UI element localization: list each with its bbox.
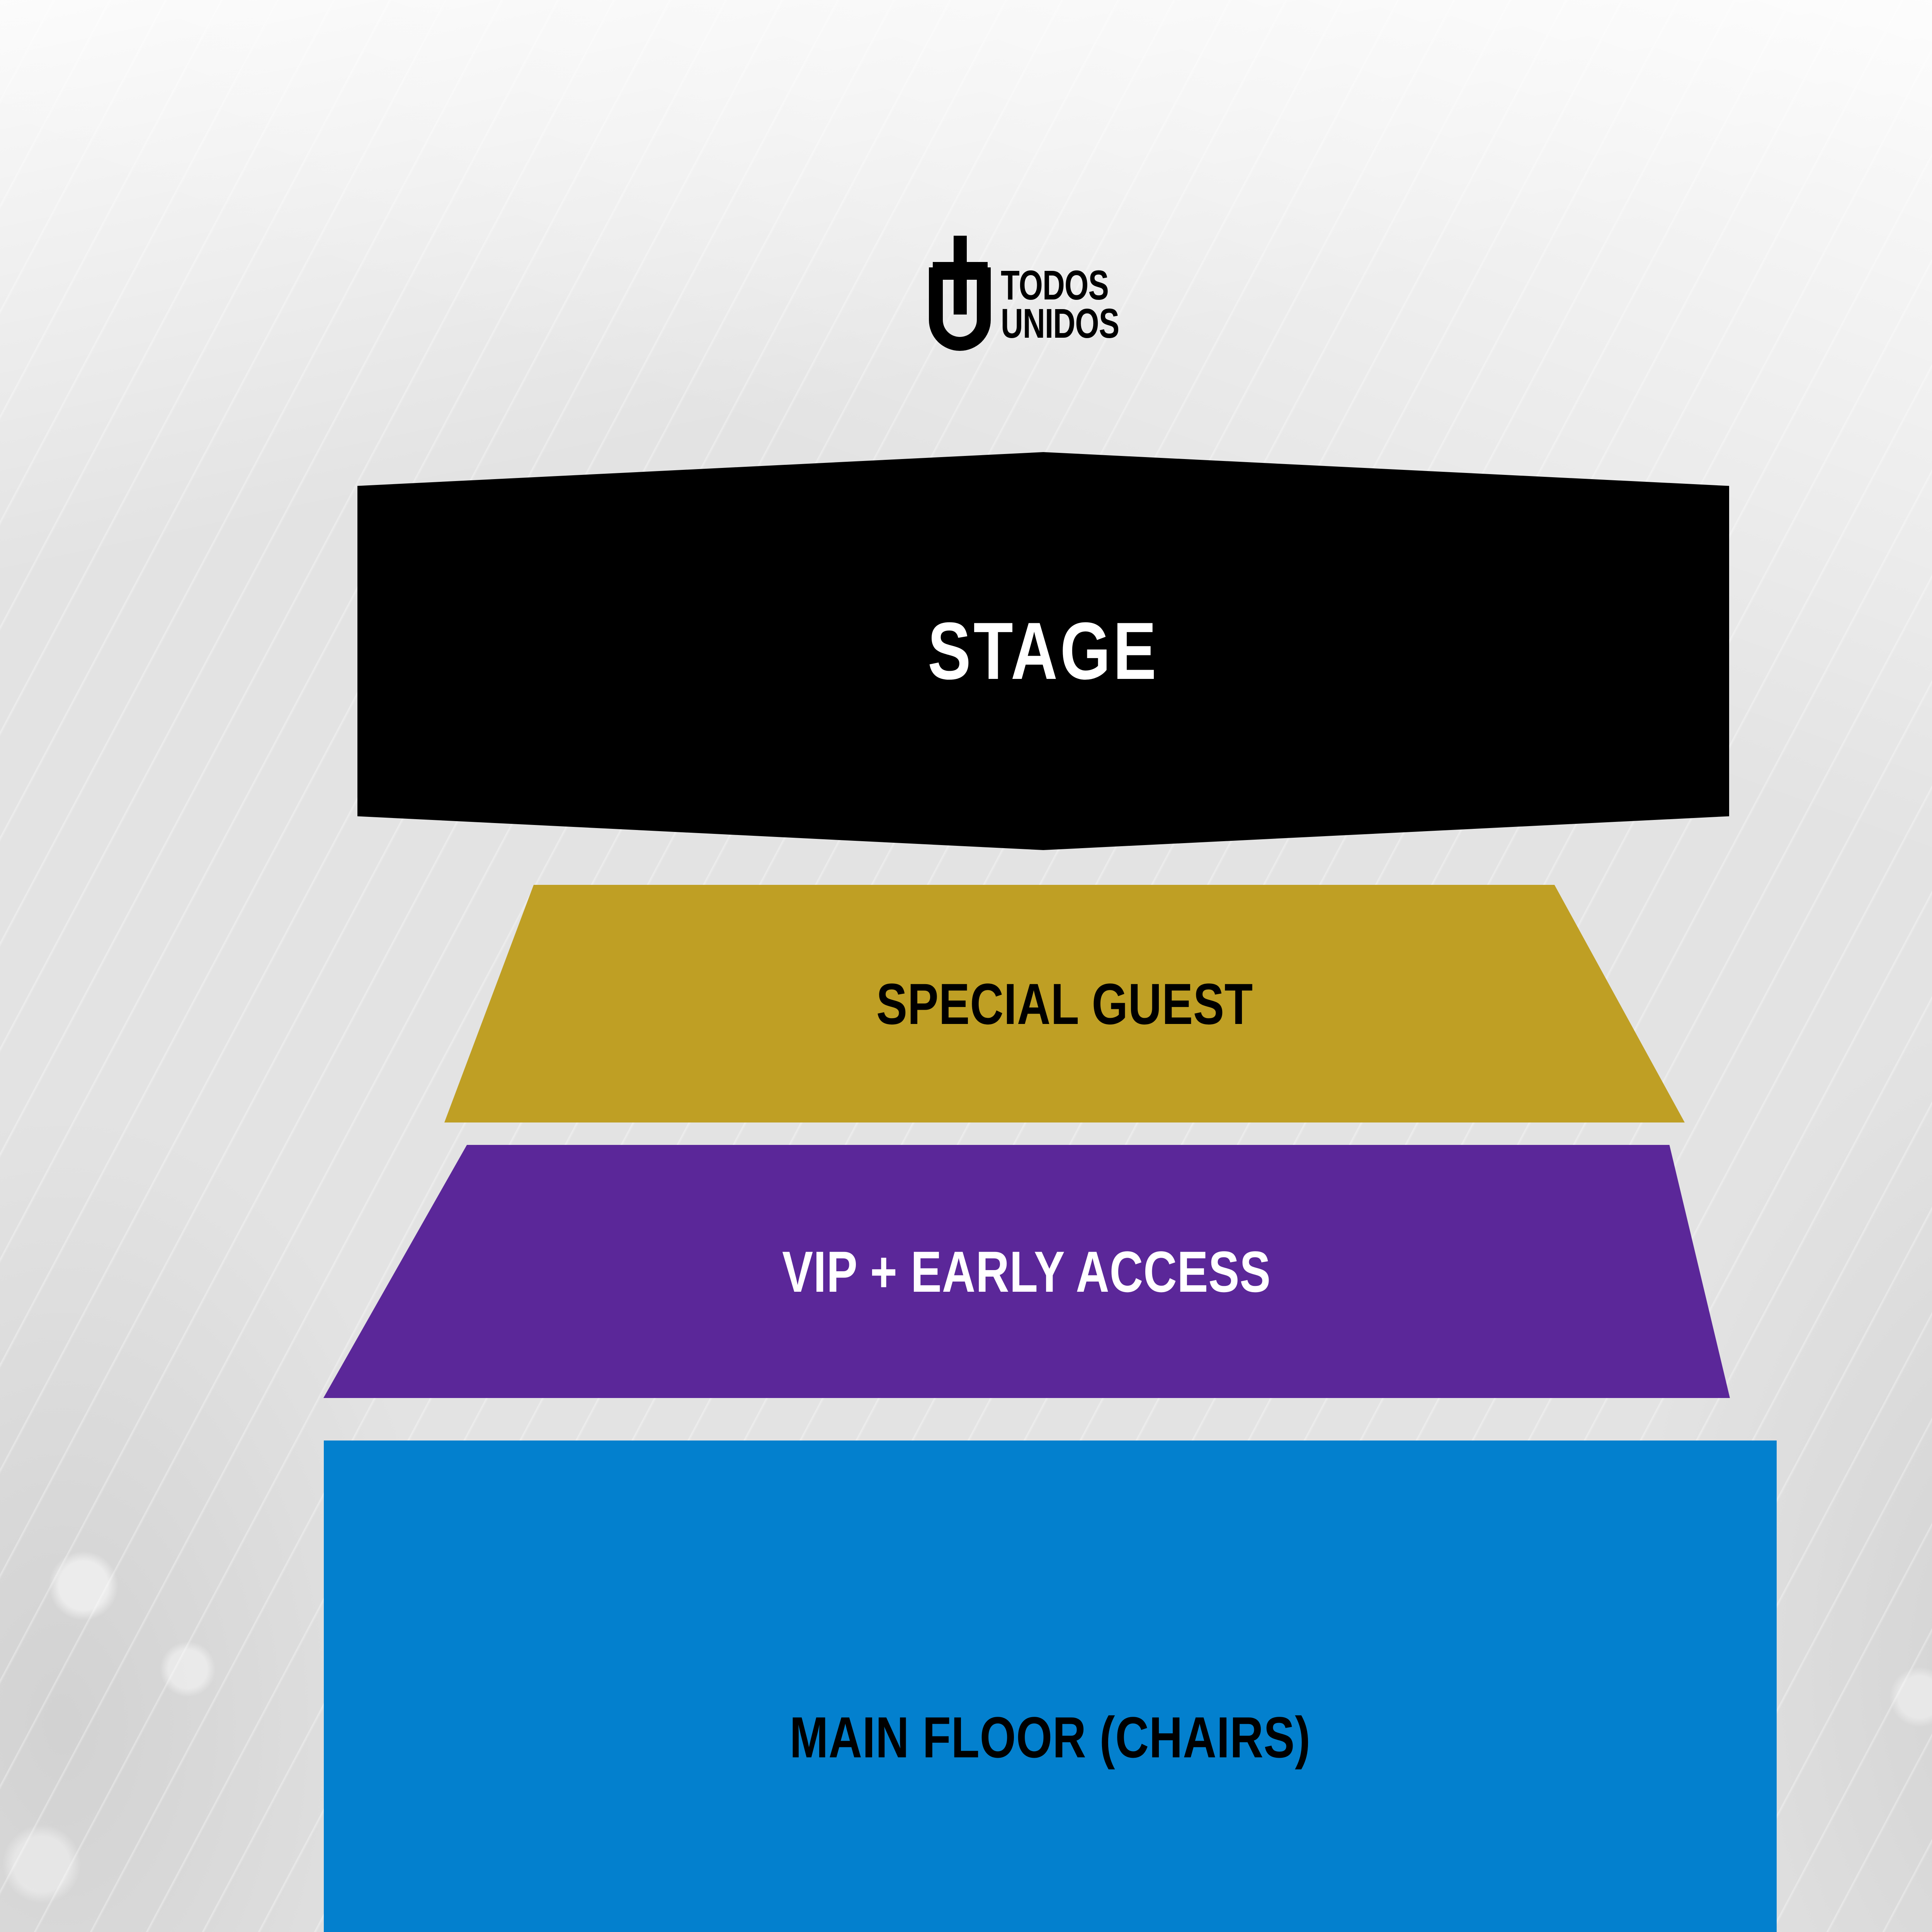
section-stage-label: STAGE bbox=[928, 611, 1159, 692]
section-special-guest-label: SPECIAL GUEST bbox=[876, 975, 1253, 1033]
brand-logo: TODOS UNIDOS bbox=[0, 236, 1932, 352]
section-vip-early-access-label: VIP + EARLY ACCESS bbox=[782, 1243, 1271, 1301]
section-vip-early-access[interactable]: VIP + EARLY ACCESS bbox=[323, 1145, 1730, 1398]
cross-u-monogram-icon bbox=[926, 236, 995, 352]
section-main-floor[interactable]: MAIN FLOOR (CHAIRS) bbox=[324, 1440, 1777, 1932]
brand-name-line2: UNIDOS bbox=[1001, 304, 1119, 342]
seating-map-page: TODOS UNIDOS STAGE SPECIAL GUEST VIP + E… bbox=[0, 0, 1932, 1932]
logo-cross-horizontal bbox=[933, 262, 988, 280]
section-main-floor-label: MAIN FLOOR (CHAIRS) bbox=[790, 1708, 1311, 1766]
section-special-guest[interactable]: SPECIAL GUEST bbox=[444, 885, 1685, 1122]
section-stage[interactable]: STAGE bbox=[357, 452, 1729, 850]
brand-wordmark: TODOS UNIDOS bbox=[1001, 236, 1161, 343]
brand-name-line1: TODOS bbox=[1001, 266, 1119, 304]
